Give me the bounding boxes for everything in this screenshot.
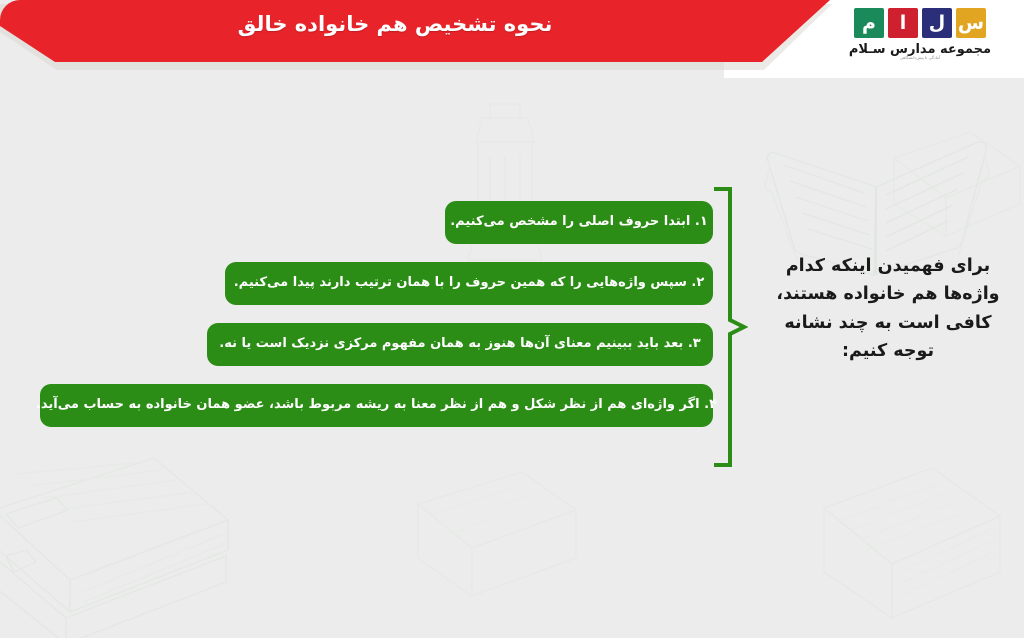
logo-square-meem: م [854,8,884,38]
step-row: ۲. سپس واژه‌هایی را که همین حروف را با ه… [225,262,713,305]
step-row: ۱. ابتدا حروف اصلی را مشخص می‌کنیم. [445,201,713,244]
header: نحوه تشخیص هم خانواده خالق س ل ا م مجموع… [0,0,1024,78]
logo-square-seen: س [956,8,986,38]
logo-square-alef: ا [888,8,918,38]
step-row: ۴. اگر واژه‌ای هم از نظر شکل و هم از نظر… [40,384,713,427]
logo-letter-squares: س ل ا م [830,8,1010,38]
step-box-1[interactable]: ۱. ابتدا حروف اصلی را مشخص می‌کنیم. [445,201,713,244]
watermark-notebook-right [804,468,1004,638]
step-box-2[interactable]: ۲. سپس واژه‌هایی را که همین حروف را با ه… [225,262,713,305]
steps-list: ۱. ابتدا حروف اصلی را مشخص می‌کنیم. ۲. س… [0,201,713,451]
logo-square-lam: ل [922,8,952,38]
step-box-4[interactable]: ۴. اگر واژه‌ای هم از نظر شکل و هم از نظر… [40,384,713,427]
grouping-bracket-icon [714,186,748,468]
page-title: نحوه تشخیص هم خانواده خالق [0,12,790,36]
intro-text: برای فهمیدن اینکه کدام واژه‌ها هم خانواد… [774,252,1002,365]
brand-logo[interactable]: س ل ا م مجموعه مدارس سـلام آمادگی تا پیش… [830,8,1010,60]
slide-canvas: نحوه تشخیص هم خانواده خالق س ل ا م مجموع… [0,0,1024,638]
step-box-3[interactable]: ۳. بعد باید ببینیم معنای آن‌ها هنوز به ه… [207,323,713,366]
watermark-pen-bottom-center [390,470,580,620]
watermark-book-stack-bottom-left [0,452,306,638]
step-row: ۳. بعد باید ببینیم معنای آن‌ها هنوز به ه… [207,323,713,366]
watermark-book-right-upper [884,128,1024,248]
